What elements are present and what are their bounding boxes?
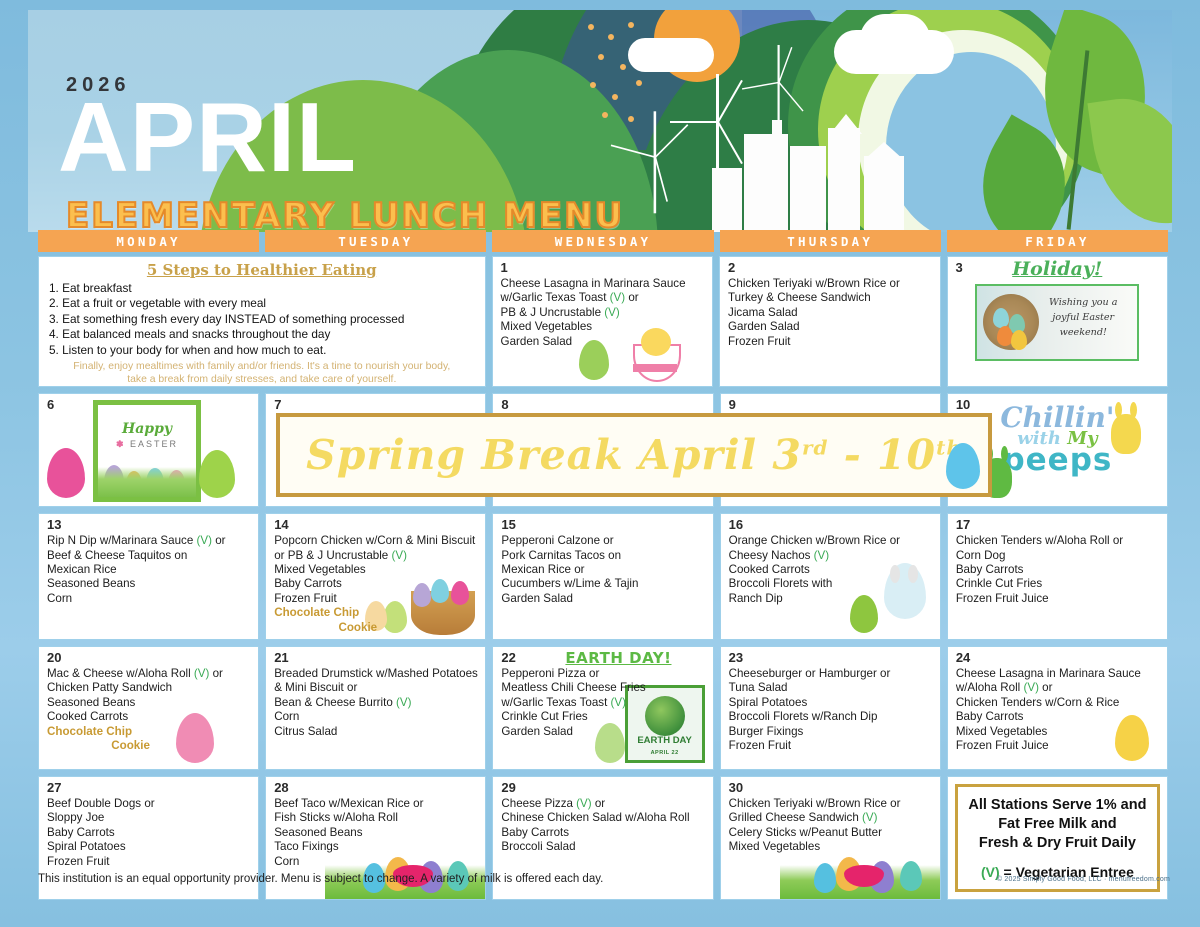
day-header-monday: MONDAY bbox=[38, 230, 259, 252]
menu-item: Corn bbox=[47, 592, 252, 606]
menu-item: Cheeseburger or Hamburger or bbox=[729, 667, 934, 681]
menu-item: Seasoned Beans bbox=[274, 826, 479, 840]
day-cell-6[interactable]: 6 Happy ✽ EASTER bbox=[38, 393, 259, 507]
nest-card-text: Wishing you a joyful Easter weekend! bbox=[1037, 295, 1129, 340]
menu-items: Cheese Pizza (V) or Chinese Chicken Sala… bbox=[493, 777, 712, 859]
menu-item: Tuna Salad bbox=[729, 681, 934, 695]
menu-item: Cheese Pizza (V) or bbox=[501, 797, 706, 811]
spring-break-text: Spring Break April 3rd - 10th bbox=[306, 431, 962, 479]
menu-item: Chicken Tenders w/Aloha Roll or bbox=[956, 534, 1161, 548]
menu-item: Broccoli Salad bbox=[501, 840, 706, 854]
menu-item: Chinese Chicken Salad w/Aloha Roll bbox=[501, 811, 706, 825]
day-cell-20[interactable]: 20 Mac & Cheese w/Aloha Roll (V) or Chic… bbox=[38, 646, 259, 770]
day-cell-13[interactable]: 13 Rip N Dip w/Marinara Sauce (V) or Bee… bbox=[38, 513, 259, 640]
egg-stripe bbox=[633, 364, 677, 372]
menu-item: Baby Carrots bbox=[501, 826, 706, 840]
special-item: Cookie bbox=[274, 621, 479, 635]
menu-item: Chicken Tenders w/Corn & Rice bbox=[956, 696, 1161, 710]
special-item: Cookie bbox=[47, 739, 252, 753]
menu-item: Mexican Rice bbox=[47, 563, 252, 577]
menu-items: Chicken Teriyaki w/Brown Rice or Grilled… bbox=[721, 777, 940, 859]
menu-item: Ranch Dip bbox=[729, 592, 934, 606]
badge-line: APRIL 22 bbox=[628, 750, 702, 756]
menu-item: Frozen Fruit bbox=[728, 335, 933, 349]
menu-items: Popcorn Chicken w/Corn & Mini Biscuit or… bbox=[266, 514, 485, 639]
menu-items: Mac & Cheese w/Aloha Roll (V) or Chicken… bbox=[39, 647, 258, 757]
menu-item: Garden Salad bbox=[501, 335, 706, 349]
calendar-week-1: 5 Steps to Healthier Eating 1. Eat break… bbox=[38, 256, 1168, 387]
menu-item: Fish Sticks w/Aloha Roll bbox=[274, 811, 479, 825]
day-number: 3 bbox=[956, 260, 963, 275]
five-steps-cell: 5 Steps to Healthier Eating 1. Eat break… bbox=[38, 256, 486, 387]
step-item: 5. Listen to your body for when and how … bbox=[49, 343, 477, 358]
happy-easter-card: Happy ✽ EASTER bbox=[93, 400, 201, 502]
info-line: All Stations Serve 1% and bbox=[968, 796, 1146, 815]
menu-item: Corn bbox=[274, 855, 479, 869]
menu-item: Frozen Fruit bbox=[47, 855, 252, 869]
menu-item: Mixed Vegetables bbox=[274, 563, 479, 577]
footnote-line: Finally, enjoy mealtimes with family and… bbox=[59, 361, 465, 374]
menu-item: Beef & Cheese Taquitos on bbox=[47, 549, 252, 563]
menu-item: Beef Double Dogs or bbox=[47, 797, 252, 811]
menu-item: Chicken Teriyaki w/Brown Rice or bbox=[728, 277, 933, 291]
day-cell-3[interactable]: 3 Holiday! Wishing you a joyful Easter w… bbox=[947, 256, 1168, 387]
menu-item: Baby Carrots bbox=[274, 577, 479, 591]
menu-item: Baby Carrots bbox=[956, 563, 1161, 577]
menu-item: Popcorn Chicken w/Corn & Mini Biscuit bbox=[274, 534, 479, 548]
card-line: Happy bbox=[98, 421, 196, 437]
calendar-week-2: 6 Happy ✽ EASTER 7 8 9 bbox=[38, 393, 1168, 507]
card-line: Wishing you a bbox=[1037, 295, 1129, 310]
special-item: Chocolate Chip bbox=[47, 725, 252, 739]
menu-item: Mexican Rice or bbox=[501, 563, 706, 577]
menu-item: Broccoli Florets w/Ranch Dip bbox=[729, 710, 934, 724]
holiday-label: Holiday! bbox=[948, 258, 1167, 280]
menu-items: Cheese Lasagna in Marinara Sauce w/Aloha… bbox=[948, 647, 1167, 757]
menu-item: Seasoned Beans bbox=[47, 696, 252, 710]
day-cell-24[interactable]: 24 Cheese Lasagna in Marinara Sauce w/Al… bbox=[947, 646, 1168, 770]
menu-item: Corn Dog bbox=[956, 549, 1161, 563]
day-number: 8 bbox=[501, 397, 508, 412]
menu-items: Orange Chicken w/Brown Rice or Cheesy Na… bbox=[721, 514, 940, 610]
card-line: weekend! bbox=[1037, 325, 1129, 340]
menu-item: Jicama Salad bbox=[728, 306, 933, 320]
easter-egg-icon bbox=[47, 448, 85, 498]
day-cell-2[interactable]: 2 Chicken Teriyaki w/Brown Rice or Turke… bbox=[719, 256, 940, 387]
footer-copyright: © 2025 Simply Good Food, LLC · menufreed… bbox=[997, 876, 1170, 883]
menu-item: Sloppy Joe bbox=[47, 811, 252, 825]
menu-items: Pepperoni Calzone or Pork Carnitas Tacos… bbox=[493, 514, 712, 610]
menu-item: Cheese Lasagna in Marinara Sauce bbox=[501, 277, 706, 291]
five-steps-list: 1. Eat breakfast 2. Eat a fruit or veget… bbox=[39, 279, 485, 358]
menu-item: Garden Salad bbox=[501, 592, 706, 606]
menu-item: Baby Carrots bbox=[956, 710, 1161, 724]
day-cell-1[interactable]: 1 Cheese Lasagna in Marinara Sauce w/Gar… bbox=[492, 256, 713, 387]
menu-subtitle: ELEMENTARY LUNCH MENU bbox=[66, 196, 624, 232]
cloud-icon bbox=[860, 14, 930, 64]
menu-item: Mixed Vegetables bbox=[501, 320, 706, 334]
menu-item: Beef Taco w/Mexican Rice or bbox=[274, 797, 479, 811]
spring-break-banner: Spring Break April 3rd - 10th bbox=[276, 413, 992, 497]
step-item: 1. Eat breakfast bbox=[49, 281, 477, 296]
menu-items: Cheeseburger or Hamburger or Tuna Salad … bbox=[721, 647, 940, 757]
card-line: ✽ EASTER bbox=[98, 439, 196, 450]
day-cell-22[interactable]: 22 EARTH DAY! EARTH DAY APRIL 22 Peppero… bbox=[492, 646, 713, 770]
step-item: 2. Eat a fruit or vegetable with every m… bbox=[49, 296, 477, 311]
menu-items: Pepperoni Pizza or Meatless Chili Cheese… bbox=[493, 647, 712, 743]
footnote-line: take a break from daily stresses, and ta… bbox=[59, 374, 465, 387]
menu-item: w/Aloha Roll (V) or bbox=[956, 681, 1161, 695]
step-item: 3. Eat something fresh every day INSTEAD… bbox=[49, 312, 477, 327]
month-title: APRIL bbox=[58, 92, 357, 182]
menu-item: Citrus Salad bbox=[274, 725, 479, 739]
day-header-wednesday: WEDNESDAY bbox=[492, 230, 713, 252]
menu-item: or PB & J Uncrustable (V) bbox=[274, 549, 479, 563]
footer-disclaimer: This institution is an equal opportunity… bbox=[38, 873, 603, 885]
day-header-row: MONDAY TUESDAY WEDNESDAY THURSDAY FRIDAY bbox=[38, 230, 1168, 252]
day-number: 6 bbox=[47, 397, 54, 412]
menu-item: Cheese Lasagna in Marinara Sauce bbox=[956, 667, 1161, 681]
day-number: 7 bbox=[274, 397, 281, 412]
menu-item: Frozen Fruit bbox=[274, 592, 479, 606]
day-number: 9 bbox=[729, 397, 736, 412]
day-cell-15[interactable]: 15 Pepperoni Calzone or Pork Carnitas Ta… bbox=[492, 513, 713, 640]
menu-item: Meatless Chili Cheese Fries bbox=[501, 681, 706, 695]
day-cell-23[interactable]: 23 Cheeseburger or Hamburger or Tuna Sal… bbox=[720, 646, 941, 770]
menu-item: Corn bbox=[274, 710, 479, 724]
calendar-grid: 5 Steps to Healthier Eating 1. Eat break… bbox=[38, 256, 1168, 906]
step-item: 4. Eat balanced meals and snacks through… bbox=[49, 327, 477, 342]
menu-item: Chicken Patty Sandwich bbox=[47, 681, 252, 695]
easter-nest-card: Wishing you a joyful Easter weekend! bbox=[975, 284, 1139, 361]
menu-item: Frozen Fruit Juice bbox=[956, 592, 1161, 606]
confetti-dots bbox=[582, 20, 702, 130]
day-cell-16[interactable]: 16 Orange Chicken w/Brown Rice or Cheesy… bbox=[720, 513, 941, 640]
menu-item: & Mini Biscuit or bbox=[274, 681, 479, 695]
menu-item: Celery Sticks w/Peanut Butter bbox=[729, 826, 934, 840]
menu-item: Cucumbers w/Lime & Tajin bbox=[501, 577, 706, 591]
five-steps-title: 5 Steps to Healthier Eating bbox=[39, 257, 485, 279]
easter-egg-icon bbox=[199, 450, 235, 498]
day-cell-14[interactable]: 14 Popcorn Chicken w/Corn & Mini Biscuit… bbox=[265, 513, 486, 640]
day-cell-21[interactable]: 21 Breaded Drumstick w/Mashed Potatoes &… bbox=[265, 646, 486, 770]
menu-item: Bean & Cheese Burrito (V) bbox=[274, 696, 479, 710]
menu-item: w/Garlic Texas Toast (V) bbox=[501, 696, 706, 710]
menu-item: Crinkle Cut Fries bbox=[501, 710, 706, 724]
calendar-week-4: 20 Mac & Cheese w/Aloha Roll (V) or Chic… bbox=[38, 646, 1168, 770]
day-header-friday: FRIDAY bbox=[947, 230, 1168, 252]
menu-item: Cooked Carrots bbox=[47, 710, 252, 724]
calendar-week-3: 13 Rip N Dip w/Marinara Sauce (V) or Bee… bbox=[38, 513, 1168, 640]
menu-items: Cheese Lasagna in Marinara Sauce w/Garli… bbox=[493, 257, 712, 353]
menu-item: Pepperoni Pizza or bbox=[501, 667, 706, 681]
menu-item: Turkey & Cheese Sandwich bbox=[728, 291, 933, 305]
menu-item: Chicken Teriyaki w/Brown Rice or bbox=[729, 797, 934, 811]
info-line: Fresh & Dry Fruit Daily bbox=[979, 834, 1136, 853]
menu-item: Burger Fixings bbox=[729, 725, 934, 739]
menu-item: Spiral Potatoes bbox=[729, 696, 934, 710]
menu-item: Cheesy Nachos (V) bbox=[729, 549, 934, 563]
menu-item: Mixed Vegetables bbox=[729, 840, 934, 854]
calendar-page: 2026 APRIL ELEMENTARY LUNCH MENU MONDAY … bbox=[0, 0, 1200, 927]
menu-item: Garden Salad bbox=[728, 320, 933, 334]
menu-item: Broccoli Florets with bbox=[729, 577, 934, 591]
menu-item: Frozen Fruit Juice bbox=[956, 739, 1161, 753]
menu-items: Chicken Teriyaki w/Brown Rice or Turkey … bbox=[720, 257, 939, 353]
menu-item: PB & J Uncrustable (V) bbox=[501, 306, 706, 320]
day-cell-17[interactable]: 17 Chicken Tenders w/Aloha Roll or Corn … bbox=[947, 513, 1168, 640]
easter-egg-icon bbox=[946, 443, 980, 489]
menu-item: Breaded Drumstick w/Mashed Potatoes bbox=[274, 667, 479, 681]
menu-items: Beef Double Dogs or Sloppy Joe Baby Carr… bbox=[39, 777, 258, 873]
menu-item: w/Garlic Texas Toast (V) or bbox=[501, 291, 706, 305]
menu-item: Rip N Dip w/Marinara Sauce (V) or bbox=[47, 534, 252, 548]
menu-item: Cooked Carrots bbox=[729, 563, 934, 577]
card-line: joyful Easter bbox=[1037, 310, 1129, 325]
menu-items: Chicken Tenders w/Aloha Roll or Corn Dog… bbox=[948, 514, 1167, 610]
menu-item: Pork Carnitas Tacos on bbox=[501, 549, 706, 563]
menu-item: Crinkle Cut Fries bbox=[956, 577, 1161, 591]
menu-item: Seasoned Beans bbox=[47, 577, 252, 591]
menu-item: Baby Carrots bbox=[47, 826, 252, 840]
header-banner: 2026 APRIL ELEMENTARY LUNCH MENU bbox=[28, 10, 1172, 232]
menu-item: Mixed Vegetables bbox=[956, 725, 1161, 739]
menu-item: Garden Salad bbox=[501, 725, 706, 739]
peep-bunny-icon bbox=[1111, 414, 1141, 454]
info-line: Fat Free Milk and bbox=[998, 815, 1116, 834]
menu-items: Beef Taco w/Mexican Rice or Fish Sticks … bbox=[266, 777, 485, 873]
menu-items: Breaded Drumstick w/Mashed Potatoes & Mi… bbox=[266, 647, 485, 743]
menu-item: Frozen Fruit bbox=[729, 739, 934, 753]
special-item: Chocolate Chip bbox=[274, 606, 479, 620]
day-header-tuesday: TUESDAY bbox=[265, 230, 486, 252]
menu-items: Rip N Dip w/Marinara Sauce (V) or Beef &… bbox=[39, 514, 258, 610]
menu-item: Orange Chicken w/Brown Rice or bbox=[729, 534, 934, 548]
menu-item: Pepperoni Calzone or bbox=[501, 534, 706, 548]
menu-item: Taco Fixings bbox=[274, 840, 479, 854]
menu-item: Grilled Cheese Sandwich (V) bbox=[729, 811, 934, 825]
day-header-thursday: THURSDAY bbox=[720, 230, 941, 252]
five-steps-footnote: Finally, enjoy mealtimes with family and… bbox=[39, 358, 485, 386]
cloud-icon bbox=[628, 38, 714, 72]
menu-item: Spiral Potatoes bbox=[47, 840, 252, 854]
menu-item: Mac & Cheese w/Aloha Roll (V) or bbox=[47, 667, 252, 681]
footer: This institution is an equal opportunity… bbox=[38, 873, 1170, 885]
